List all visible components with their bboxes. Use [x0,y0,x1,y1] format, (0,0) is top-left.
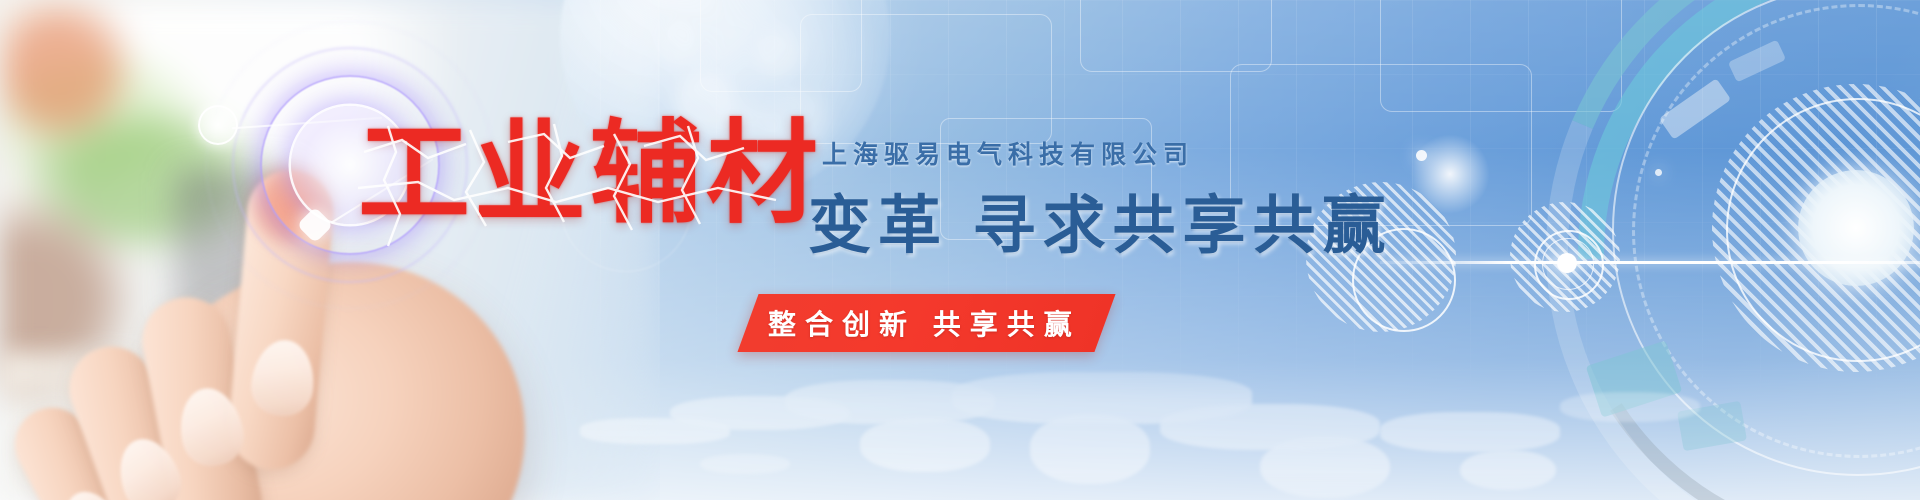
ribbon-text: 整合创新 共享共赢 [768,294,1081,352]
slogan-text: 变革 寻求共享共赢 [808,175,1393,266]
page-title: 工业辅材 [358,118,822,230]
banner-text: 工业辅材 上海驱易电气科技有限公司 变革 寻求共享共赢 整合创新 共享共赢 [0,0,1920,500]
company-name: 上海驱易电气科技有限公司 [822,135,1194,171]
hero-banner: 工业辅材 上海驱易电气科技有限公司 变革 寻求共享共赢 整合创新 共享共赢 [0,0,1920,500]
